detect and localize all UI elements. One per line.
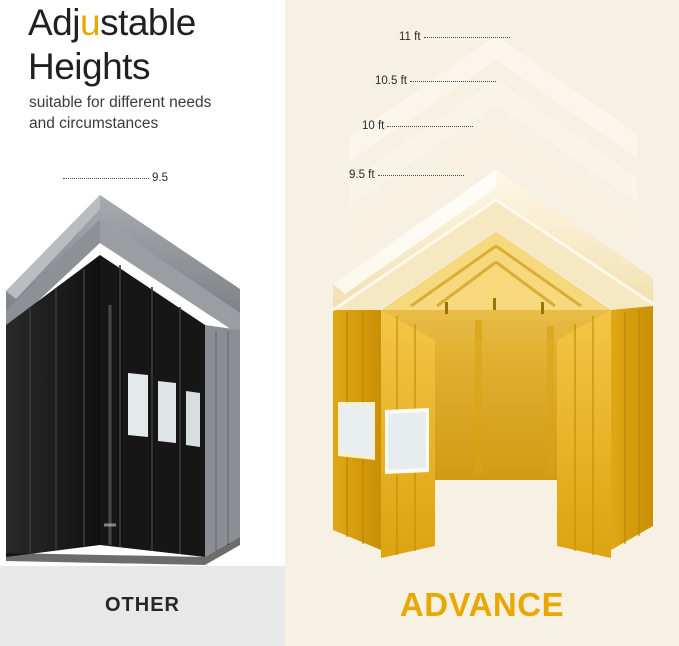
callout-dots-11ft xyxy=(424,37,510,38)
footer-advance: ADVANCE xyxy=(285,566,679,646)
subtitle-line-2: and circumstances xyxy=(29,113,274,134)
callout-height-10-5ft: 10.5 ft xyxy=(375,75,500,87)
advance-tent-illustration xyxy=(285,10,679,566)
footer-other: OTHER xyxy=(0,566,285,646)
callout-label-10-5ft: 10.5 ft xyxy=(375,75,407,87)
headline-line-2: Heights xyxy=(28,46,288,88)
product-comparison-image: Adjustable Heights suitable for differen… xyxy=(0,0,679,646)
subtitle-line-1: suitable for different needs xyxy=(29,92,274,113)
footer-advance-label: ADVANCE xyxy=(285,586,679,624)
headline-part-a: Adj xyxy=(28,2,80,43)
callout-dots-9-5ft xyxy=(378,175,464,176)
callout-height-9-5ft: 9.5 ft xyxy=(349,169,468,181)
callout-label-9-5ft: 9.5 ft xyxy=(349,169,375,181)
other-tent-illustration xyxy=(0,185,285,566)
callout-dots-other xyxy=(63,178,149,179)
callout-height-11ft: 11 ft xyxy=(399,31,514,43)
footer-other-label: OTHER xyxy=(0,594,285,617)
callout-other-height: 9.5 xyxy=(60,172,168,184)
callout-label-11ft: 11 ft xyxy=(399,31,421,43)
headline-part-b: stable xyxy=(100,2,196,43)
callout-label-other: 9.5 xyxy=(152,172,168,184)
callout-dots-10ft xyxy=(387,126,473,127)
callout-dots-10-5ft xyxy=(410,81,496,82)
headline-line-1: Adjustable xyxy=(28,2,288,44)
callout-height-10ft: 10 ft xyxy=(362,120,477,132)
headline-accent-letter: u xyxy=(80,2,100,43)
callout-label-10ft: 10 ft xyxy=(362,120,384,132)
page-subtitle: suitable for different needs and circums… xyxy=(29,92,274,134)
page-title: Adjustable Heights xyxy=(28,2,288,88)
